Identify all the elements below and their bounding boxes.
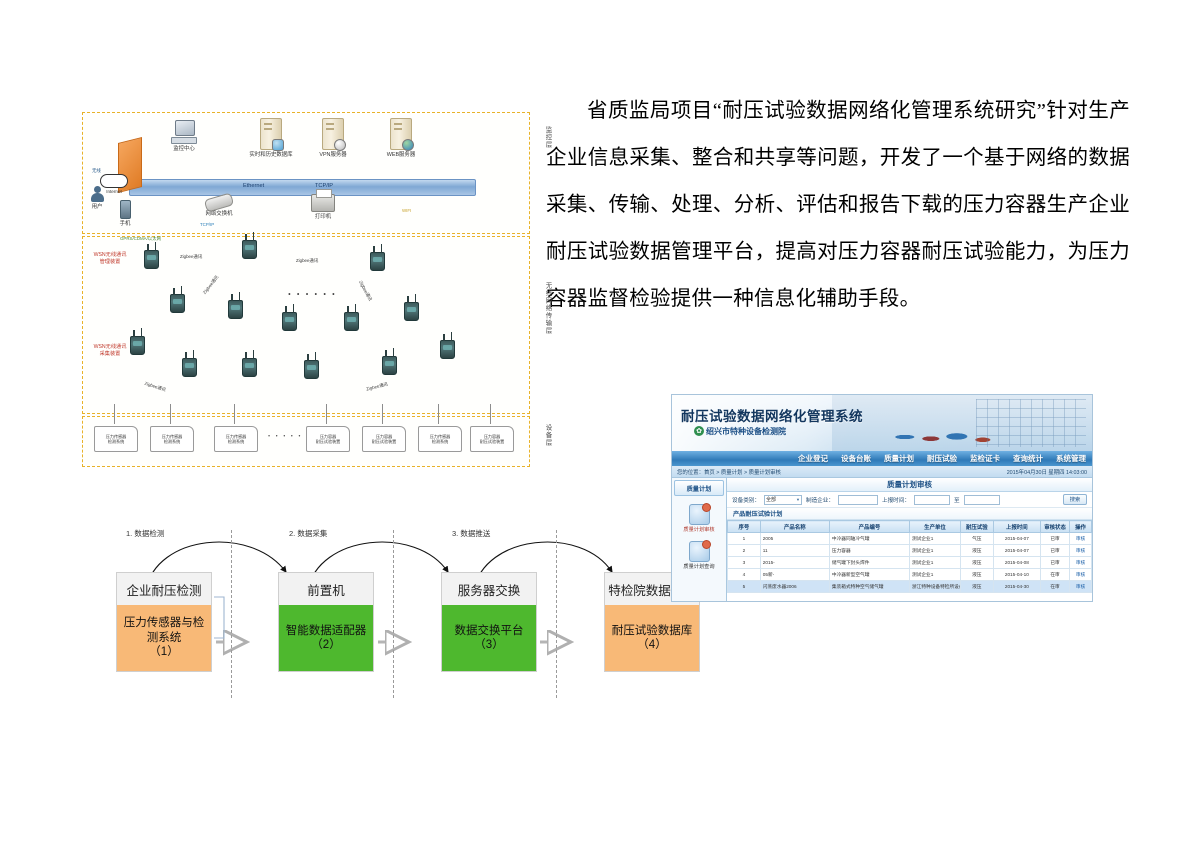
document-search-icon xyxy=(689,541,710,562)
layer-label-wireless: 无线网络传输层 xyxy=(542,282,552,335)
label-wireless: 无线 xyxy=(92,168,101,174)
flow-column-1: 企业耐压检测 压力传感器与检测系统 （1） xyxy=(116,572,212,672)
date-separator: 至 xyxy=(954,496,960,504)
td-action[interactable]: 审核 xyxy=(1070,569,1092,581)
td-review-status: 在审 xyxy=(1041,581,1070,593)
sidebar-item-label: 质量计划审核 xyxy=(683,527,714,533)
quality-plan-table: 序号 产品名称 产品编号 生产单位 耐压试验 上报时间 审核状态 操作 1200… xyxy=(727,520,1092,593)
td-product-code: 储气罐下封头焊件 xyxy=(829,557,909,569)
server-icon xyxy=(390,118,412,150)
wsn-collector-label: WSN无线通讯采集装置 xyxy=(84,344,136,358)
table-body: 12005中冷器同轴冷气罐测试企业1气压2015-04-07已审审核211压力容… xyxy=(728,533,1092,593)
flow-head-3: 服务器交换 xyxy=(441,572,537,605)
table-row[interactable]: 405新-中冷器新型空气罐测试企业1液压2015-04-10在审审核 xyxy=(728,569,1092,581)
intro-paragraph: 省质监局项目“耐压试验数据网络化管理系统研究”针对生产企业信息采集、整合和共享等… xyxy=(546,88,1130,323)
wsn-mote xyxy=(242,240,257,259)
maker-label: 制造企业： xyxy=(806,496,834,504)
nav-item-query-statistics[interactable]: 查询统计 xyxy=(1013,453,1043,464)
flow-body-index-4: （4） xyxy=(637,638,666,652)
node-switch: 网络交换机 xyxy=(190,196,248,217)
td-review-status: 已审 xyxy=(1041,533,1070,545)
data-flow-diagram: 1. 数据检测 2. 数据采集 3. 数据推送 企业耐压检测 压力传感器与检测系… xyxy=(86,500,686,700)
flow-body-text-1: 压力传感器与检测系统 xyxy=(124,616,205,645)
page-title: 质量计划审核 xyxy=(727,478,1092,492)
node-label: 打印机 xyxy=(315,214,331,220)
td-product-name: 05新- xyxy=(760,569,829,581)
td-manufacturer: 测试企业1 xyxy=(909,545,960,557)
blueprint-art xyxy=(976,399,1086,447)
td-report-time: 2015-04-07 xyxy=(993,533,1040,545)
flow-head-2: 前置机 xyxy=(278,572,374,605)
wsn-mote xyxy=(170,294,185,313)
table-row[interactable]: 32015-储气罐下封头焊件测试企业1液压2015-04-08已审审核 xyxy=(728,557,1092,569)
section-title: 产品耐压试验计划 xyxy=(727,508,1092,520)
td-index: 2 xyxy=(728,545,761,557)
breadcrumb: 您的位置：首页 > 质量计划 > 质量计划审核 xyxy=(677,468,781,476)
nav-item-equipment-ledger[interactable]: 设备台账 xyxy=(841,453,871,464)
td-index: 3 xyxy=(728,557,761,569)
sidebar-item-label: 质量计划查询 xyxy=(683,564,714,570)
webapp-screenshot: 耐压试验数据网络化管理系统 ✿ 绍兴市特种设备检测院 企业登记 设备台账 质量计… xyxy=(671,394,1093,602)
td-manufacturer: 测试企业1 xyxy=(909,533,960,545)
device-box: 压力传感器检测系统 xyxy=(150,426,194,452)
wsn-mote xyxy=(228,300,243,319)
td-product-code: 集装箱式特种空气储气罐 xyxy=(829,581,909,593)
flow-body-text-3: 数据交换平台 xyxy=(455,624,524,638)
td-pressure-test: 液压 xyxy=(960,545,993,557)
td-review-status: 已审 xyxy=(1041,557,1070,569)
network-architecture-diagram: 监控层 无线网络传输层 设备层 Ethernet TCP/IP 监控中心 实时和… xyxy=(82,112,530,467)
date-label: 上报时间： xyxy=(882,496,910,504)
td-product-code: 中冷器新型空气罐 xyxy=(829,569,909,581)
search-button[interactable]: 搜索 xyxy=(1063,494,1087,505)
node-vpn-server: VPN服务器 xyxy=(304,118,362,158)
wsn-mote xyxy=(282,312,297,331)
sidebar-item-quality-plan-query[interactable]: 质量计划查询 xyxy=(672,541,726,570)
td-pressure-test: 气压 xyxy=(960,533,993,545)
wsn-mote xyxy=(304,360,319,379)
node-printer: 打印机 xyxy=(294,194,352,220)
sidebar-item-quality-plan-review[interactable]: 质量计划审核 xyxy=(672,504,726,533)
desktop-computer-icon xyxy=(171,120,197,144)
th-review-status: 审核状态 xyxy=(1041,521,1070,533)
layer-label-device: 设备层 xyxy=(542,424,552,447)
td-report-time: 2015-04-10 xyxy=(993,569,1040,581)
maker-input[interactable] xyxy=(838,495,878,505)
td-report-time: 2015-04-30 xyxy=(993,581,1040,593)
table-row[interactable]: 5闪蒸废水器2006集装箱式特种空气储气罐浙江特种设备特检所设备有限公司液压20… xyxy=(728,581,1092,593)
org-logo-icon: ✿ xyxy=(694,426,704,436)
table-row[interactable]: 211压力容器测试企业1液压2015-04-07已审审核 xyxy=(728,545,1092,557)
td-product-code: 压力容器 xyxy=(829,545,909,557)
zigbee-link-label: Zigbee通讯 xyxy=(296,258,318,264)
th-report-time: 上报时间 xyxy=(993,521,1040,533)
wsn-mote xyxy=(242,358,257,377)
layer-label-monitor: 监控层 xyxy=(542,126,552,149)
flow-column-2: 前置机 智能数据适配器 （2） xyxy=(278,572,374,672)
mobile-phone-icon xyxy=(120,200,131,219)
webapp-statusbar: 您的位置：首页 > 质量计划 > 质量计划审核 2015年04月30日 星期四 … xyxy=(672,466,1092,478)
node-monitor-center: 监控中心 xyxy=(155,120,213,152)
flow-body-text-2: 智能数据适配器 xyxy=(286,624,367,638)
label-wifi: WIFI xyxy=(402,208,411,213)
server-icon xyxy=(260,118,282,150)
td-product-code: 中冷器同轴冷气罐 xyxy=(829,533,909,545)
table-row[interactable]: 12005中冷器同轴冷气罐测试企业1气压2015-04-07已审审核 xyxy=(728,533,1092,545)
device-box: 压力传感器检测系统 xyxy=(94,426,138,452)
device-box: 压力传感器检测系统 xyxy=(214,426,258,452)
td-index: 1 xyxy=(728,533,761,545)
td-manufacturer: 测试企业1 xyxy=(909,569,960,581)
wsn-mote xyxy=(404,302,419,321)
flow-body-2: 智能数据适配器 （2） xyxy=(278,605,374,672)
nav-item-quality-plan[interactable]: 质量计划 xyxy=(884,453,914,464)
td-product-name: 2005 xyxy=(760,533,829,545)
td-review-status: 已审 xyxy=(1041,545,1070,557)
server-icon xyxy=(322,118,344,150)
node-label: 监控中心 xyxy=(173,146,195,152)
label-tcpip-low: TCP/IP xyxy=(200,222,214,227)
td-pressure-test: 液压 xyxy=(960,557,993,569)
nav-item-inspection-card[interactable]: 监检证卡 xyxy=(970,453,1000,464)
td-index: 4 xyxy=(728,569,761,581)
wsn-mote xyxy=(382,356,397,375)
wsn-manager-label: WSN无线通讯管理装置 xyxy=(84,252,136,266)
webapp-nav[interactable]: 企业登记 设备台账 质量计划 耐压试验 监检证卡 查询统计 系统管理 xyxy=(672,451,1092,466)
flow-body-text-4: 耐压试验数据库 xyxy=(612,624,693,638)
th-action: 操作 xyxy=(1070,521,1092,533)
td-manufacturer: 浙江特种设备特检所设备有限公司 xyxy=(909,581,960,593)
table-header-row: 序号 产品名称 产品编号 生产单位 耐压试验 上报时间 审核状态 操作 xyxy=(728,521,1092,533)
th-index: 序号 xyxy=(728,521,761,533)
org-name: 绍兴市特种设备检测院 xyxy=(706,426,786,437)
nav-item-system-management[interactable]: 系统管理 xyxy=(1056,453,1086,464)
td-pressure-test: 液压 xyxy=(960,569,993,581)
wsn-mote xyxy=(440,340,455,359)
node-realtime-db: 实时和历史数据库 xyxy=(242,118,300,158)
node-label: 实时和历史数据库 xyxy=(249,152,292,158)
device-box: 压力容器耐压试验装置 xyxy=(470,426,514,452)
th-pressure-test: 耐压试验 xyxy=(960,521,993,533)
th-product-name: 产品名称 xyxy=(760,521,829,533)
clock-text: 2015年04月30日 星期四 14:03:00 xyxy=(1007,468,1087,476)
node-phone: 手机 xyxy=(108,200,142,227)
document-review-icon xyxy=(689,504,710,525)
webapp-content: 质量计划审核 设备类别： 全部 ▼ 制造企业： 上报时间： 至 搜索 产品耐压试… xyxy=(727,478,1092,602)
flow-body-3: 数据交换平台 （3） xyxy=(441,605,537,672)
chevron-down-icon: ▼ xyxy=(796,497,800,502)
td-action[interactable]: 审核 xyxy=(1070,557,1092,569)
cloud-icon xyxy=(100,174,128,188)
wsn-mote xyxy=(344,312,359,331)
flow-body-4: 耐压试验数据库 （4） xyxy=(604,605,700,672)
td-index: 5 xyxy=(728,581,761,593)
bus-label-ethernet: Ethernet xyxy=(243,183,264,189)
wsn-mote xyxy=(144,250,159,269)
date-to-input[interactable] xyxy=(964,495,1000,505)
td-review-status: 在审 xyxy=(1041,569,1070,581)
device-ellipsis: • • • • • • xyxy=(268,434,310,440)
node-label: 手机 xyxy=(120,221,131,227)
th-manufacturer: 生产单位 xyxy=(909,521,960,533)
webapp-sidebar: 质量计划 质量计划审核 质量计划查询 xyxy=(672,478,727,602)
flow-arrow-label-3: 3. 数据推送 xyxy=(452,528,490,539)
nav-item-pressure-test[interactable]: 耐压试验 xyxy=(927,453,957,464)
flow-body-index-3: （3） xyxy=(474,638,503,652)
td-product-name: 11 xyxy=(760,545,829,557)
node-label: WEB服务器 xyxy=(387,152,415,158)
zigbee-link-label: Zigbee通讯 xyxy=(180,254,202,260)
device-box: 压力传感器检测系统 xyxy=(418,426,462,452)
device-type-label: 设备类别： xyxy=(732,496,760,504)
th-product-code: 产品编号 xyxy=(829,521,909,533)
device-type-value: 全部 xyxy=(766,496,776,503)
td-product-name: 2015- xyxy=(760,557,829,569)
td-pressure-test: 液压 xyxy=(960,581,993,593)
filter-bar: 设备类别： 全部 ▼ 制造企业： 上报时间： 至 搜索 xyxy=(727,492,1092,508)
flow-arrow-label-2: 2. 数据采集 xyxy=(289,528,327,539)
td-action[interactable]: 审核 xyxy=(1070,533,1092,545)
flow-body-index-1: （1） xyxy=(149,645,178,659)
flow-body-1: 压力传感器与检测系统 （1） xyxy=(116,605,212,672)
flow-head-1: 企业耐压检测 xyxy=(116,572,212,605)
td-report-time: 2015-04-08 xyxy=(993,557,1040,569)
wsn-mote xyxy=(182,358,197,377)
date-from-input[interactable] xyxy=(914,495,950,505)
node-label: Internet xyxy=(106,189,122,194)
wsn-ellipsis: • • • • • • xyxy=(288,290,337,299)
td-action[interactable]: 审核 xyxy=(1070,545,1092,557)
webapp-banner: 耐压试验数据网络化管理系统 ✿ 绍兴市特种设备检测院 xyxy=(672,395,1092,451)
td-manufacturer: 测试企业1 xyxy=(909,557,960,569)
sidebar-header: 质量计划 xyxy=(674,480,724,496)
wsn-mote xyxy=(130,336,145,355)
webapp-title: 耐压试验数据网络化管理系统 xyxy=(681,405,863,425)
node-label: VPN服务器 xyxy=(319,152,346,158)
td-product-name: 闪蒸废水器2006 xyxy=(760,581,829,593)
printer-icon xyxy=(311,194,335,212)
td-action[interactable]: 审核 xyxy=(1070,581,1092,593)
device-type-select[interactable]: 全部 ▼ xyxy=(764,495,802,505)
node-web-server: WEB服务器 xyxy=(372,118,430,158)
network-switch-icon xyxy=(204,192,234,212)
flow-body-index-2: （2） xyxy=(311,638,340,652)
td-report-time: 2015-04-07 xyxy=(993,545,1040,557)
wsn-mote xyxy=(370,252,385,271)
device-box: 压力容器耐压试验装置 xyxy=(306,426,350,452)
webapp-main: 质量计划 质量计划审核 质量计划查询 质量计划审核 设备类别： 全部 ▼ 制造企… xyxy=(672,478,1092,602)
node-label: 网络交换机 xyxy=(206,211,233,217)
device-box: 压力容器耐压试验装置 xyxy=(362,426,406,452)
node-label: 用户 xyxy=(92,204,103,210)
node-internet: Internet xyxy=(94,174,134,195)
nav-item-enterprise-registration[interactable]: 企业登记 xyxy=(798,453,828,464)
flow-column-3: 服务器交换 数据交换平台 （3） xyxy=(441,572,537,672)
flow-arrow-label-1: 1. 数据检测 xyxy=(126,528,164,539)
